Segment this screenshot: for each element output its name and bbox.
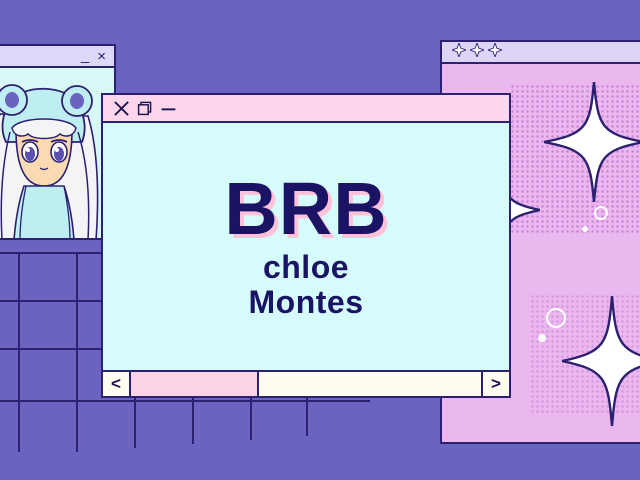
canvas: _ × bbox=[0, 0, 640, 480]
portrait-window-titlebar[interactable]: _ × bbox=[0, 46, 114, 68]
scroll-right-button[interactable]: > bbox=[481, 372, 509, 396]
bubble-circle bbox=[594, 206, 608, 220]
sparkle-icon bbox=[544, 82, 640, 207]
brb-window-content: BRB chloe Montes bbox=[103, 123, 509, 370]
display-name-line-1: chloe bbox=[249, 250, 364, 285]
minimize-icon[interactable]: _ bbox=[81, 51, 89, 61]
close-icon[interactable]: × bbox=[97, 48, 106, 65]
sparkle-icon bbox=[488, 43, 502, 62]
portrait-window[interactable]: _ × bbox=[0, 44, 116, 240]
bubble-dot bbox=[582, 226, 588, 232]
minimize-icon[interactable] bbox=[160, 100, 177, 117]
brb-window-titlebar[interactable] bbox=[103, 95, 509, 123]
headline: BRB bbox=[224, 174, 387, 244]
close-icon[interactable] bbox=[113, 100, 130, 117]
bubble-circle bbox=[610, 364, 623, 377]
brb-window[interactable]: BRB chloe Montes < > bbox=[101, 93, 511, 398]
restore-icon[interactable] bbox=[137, 100, 153, 116]
scroll-left-button[interactable]: < bbox=[103, 372, 131, 396]
bubble-circle bbox=[546, 308, 566, 328]
portrait-image bbox=[0, 68, 114, 238]
bubble-dot bbox=[538, 334, 546, 342]
sparkle-icon bbox=[452, 43, 466, 62]
horizontal-scrollbar[interactable]: < > bbox=[103, 370, 509, 396]
scrollbar-track[interactable] bbox=[131, 372, 481, 396]
sparkle-window-titlebar[interactable] bbox=[442, 42, 640, 64]
sparkle-icon bbox=[470, 43, 484, 62]
display-name: chloe Montes bbox=[249, 250, 364, 319]
scrollbar-thumb[interactable] bbox=[131, 372, 259, 396]
sparkle-icon bbox=[562, 296, 640, 431]
display-name-line-2: Montes bbox=[249, 285, 364, 320]
